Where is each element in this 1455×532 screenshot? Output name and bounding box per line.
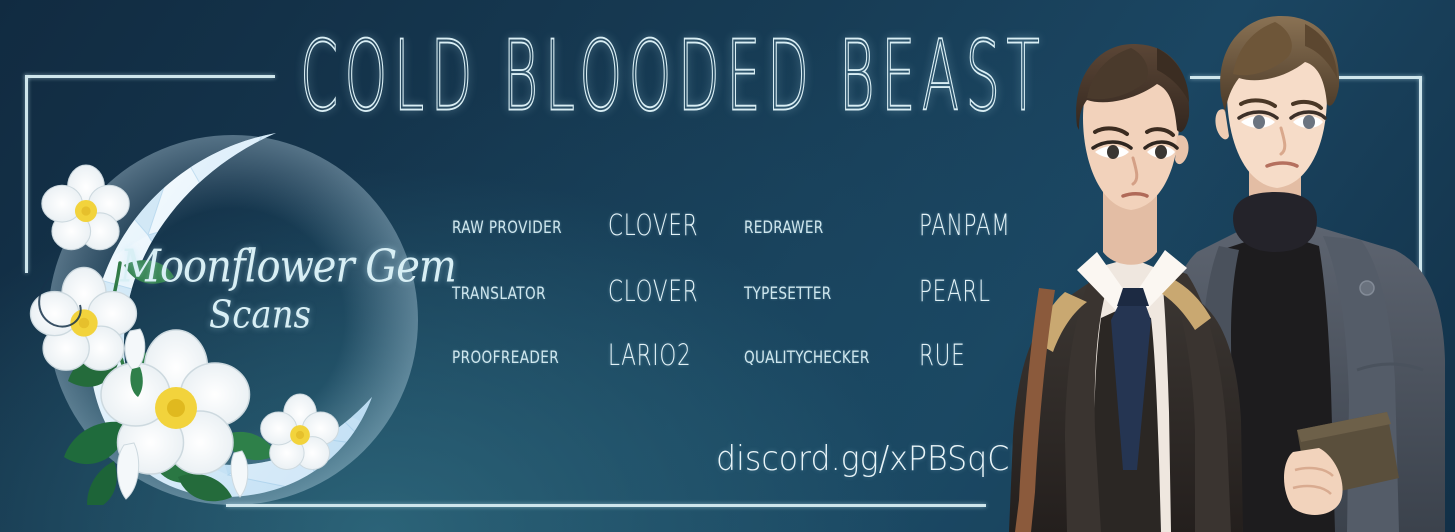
frame-line-top-left-horizontal xyxy=(25,75,275,78)
moon-logo-graphic xyxy=(28,105,428,505)
credit-name: RUE xyxy=(919,338,965,372)
credit-role: RAW PROVIDER xyxy=(452,218,562,238)
credits-banner: COLD BLOODED BEAST xyxy=(0,0,1455,532)
credit-name: LARIO2 xyxy=(608,338,691,372)
credit-role: REDRAWER xyxy=(744,218,823,238)
scanlation-logo: Moonflower Gem Scans xyxy=(28,105,428,505)
credit-role: TYPESETTER xyxy=(744,284,831,304)
credit-role: PROOFREADER xyxy=(452,348,559,368)
credits-list: RAW PROVIDER CLOVER TRANSLATOR CLOVER PR… xyxy=(452,200,1012,385)
credit-role: QUALITYCHECKER xyxy=(744,348,870,368)
two-men-illustration xyxy=(975,0,1455,532)
credit-name: CLOVER xyxy=(608,274,698,308)
character-artwork xyxy=(975,0,1455,532)
credit-role: TRANSLATOR xyxy=(452,284,546,304)
series-title: COLD BLOODED BEAST xyxy=(300,22,930,112)
credit-name: CLOVER xyxy=(608,208,698,242)
